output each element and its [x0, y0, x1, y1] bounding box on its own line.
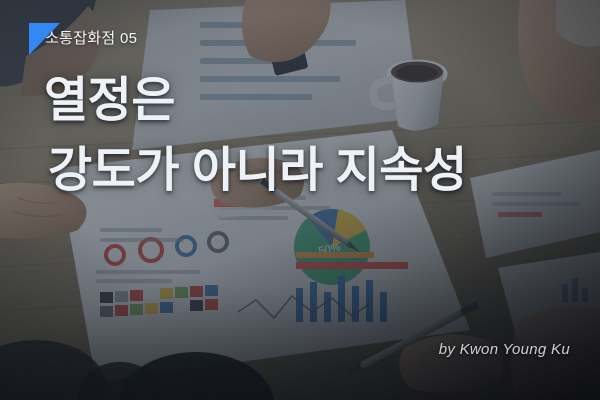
headline-line-1: 열정은 [44, 66, 574, 136]
slide-canvas: 50% [0, 0, 600, 400]
series-badge: 소통잡화점 05 [29, 23, 137, 55]
author-credit: by Kwon Young Ku [439, 341, 570, 358]
series-badge-label: 소통잡화점 05 [29, 23, 137, 55]
headline-line-2: 강도가 아니라 지속성 [44, 136, 574, 206]
headline-block: 열정은 강도가 아니라 지속성 [44, 66, 574, 206]
